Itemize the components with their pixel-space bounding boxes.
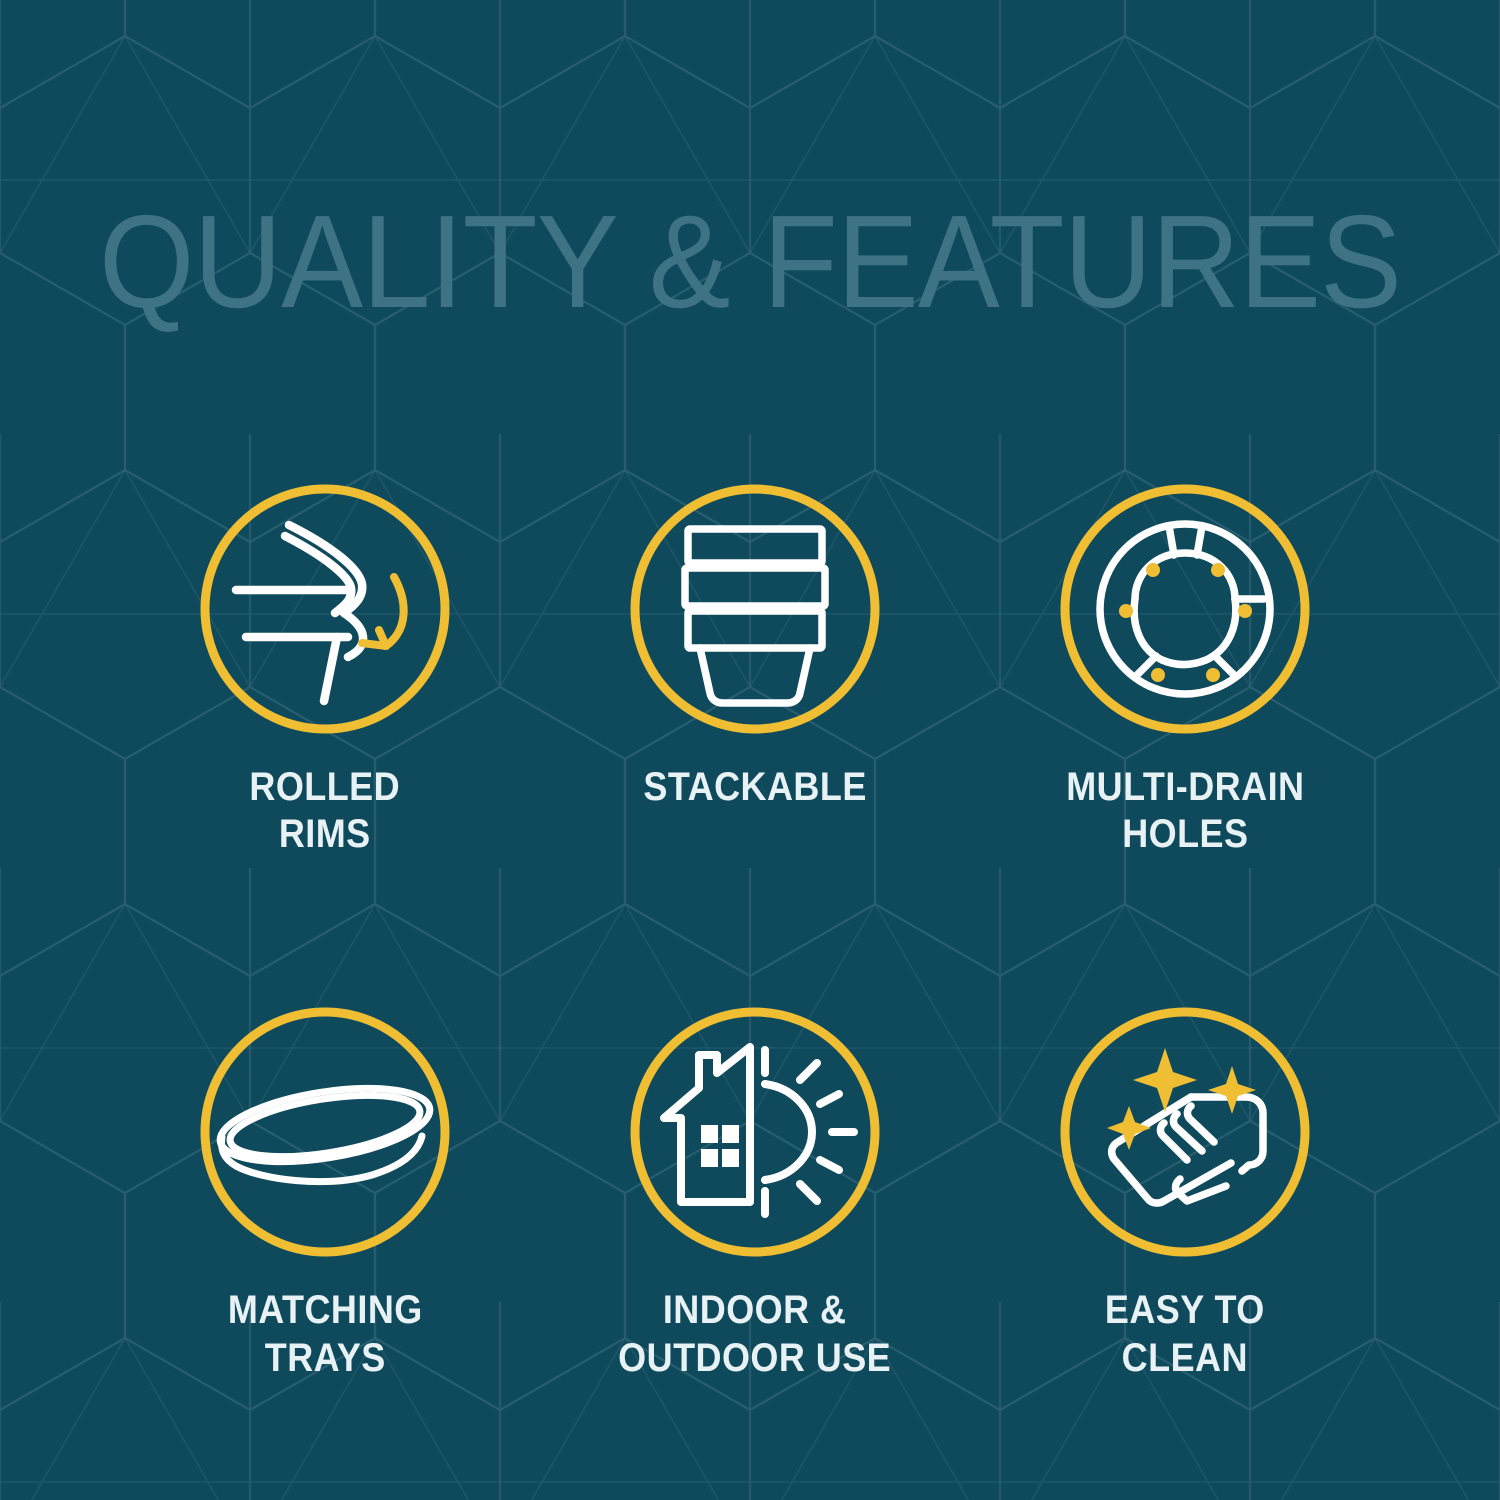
feature-icon-frame bbox=[1056, 1003, 1314, 1261]
hand-wipe-icon bbox=[1112, 1097, 1263, 1203]
tray-icon bbox=[215, 1076, 435, 1182]
feature-label: INDOOR & OUTDOOR USE bbox=[619, 1287, 892, 1381]
feature-item-stackable[interactable]: STACKABLE bbox=[540, 480, 970, 858]
feature-item-rolled-rims[interactable]: ROLLED RIMS bbox=[110, 480, 540, 858]
feature-item-indoor-outdoor-use[interactable]: INDOOR & OUTDOOR USE bbox=[540, 1003, 970, 1381]
feature-label: ROLLED RIMS bbox=[250, 764, 401, 858]
stacked-pots-icon bbox=[685, 529, 825, 703]
feature-label: MATCHING TRAYS bbox=[228, 1287, 423, 1381]
feature-label: EASY TO CLEAN bbox=[1105, 1287, 1265, 1381]
feature-label: MULTI-DRAIN HOLES bbox=[1066, 764, 1304, 858]
feature-label: STACKABLE bbox=[643, 764, 866, 811]
features-grid: ROLLED RIMS STACKABLE bbox=[110, 480, 1400, 1382]
rolled-rim-icon bbox=[236, 525, 363, 701]
feature-icon-frame bbox=[626, 1003, 884, 1261]
house-sun-icon bbox=[664, 1047, 854, 1214]
feature-item-easy-to-clean[interactable]: EASY TO CLEAN bbox=[970, 1003, 1400, 1381]
rotation-arrow-icon bbox=[362, 577, 404, 646]
feature-item-multi-drain-holes[interactable]: MULTI-DRAIN HOLES bbox=[970, 480, 1400, 858]
feature-icon-frame bbox=[196, 480, 454, 738]
feature-icon-frame bbox=[1056, 480, 1314, 738]
page-title: QUALITY & FEATURES bbox=[53, 196, 1448, 328]
feature-icon-frame bbox=[196, 1003, 454, 1261]
feature-item-matching-trays[interactable]: MATCHING TRAYS bbox=[110, 1003, 540, 1381]
feature-icon-frame bbox=[626, 480, 884, 738]
